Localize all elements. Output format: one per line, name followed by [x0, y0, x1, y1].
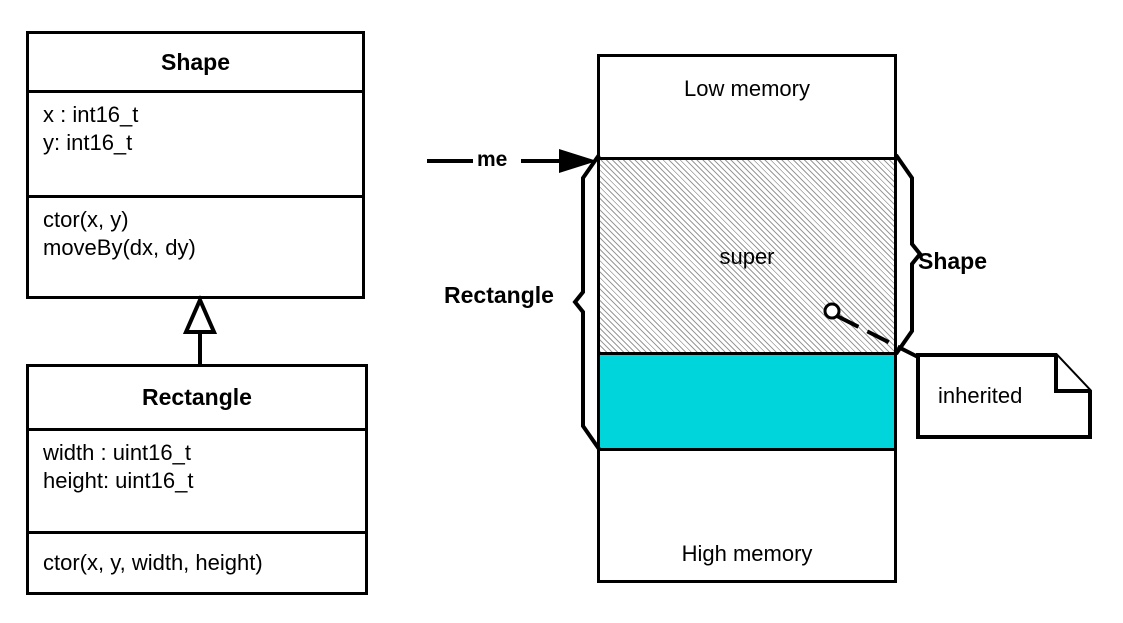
brace-rectangle-shape — [575, 155, 599, 449]
hollow-triangle-icon — [186, 300, 214, 332]
uml-operation: ctor(x, y) — [43, 206, 362, 234]
uml-attribute: y: int16_t — [43, 129, 362, 157]
uml-attribute: width : uint16_t — [43, 439, 365, 467]
note-inherited: inherited — [916, 353, 1092, 439]
memory-low-label: Low memory — [600, 76, 894, 102]
note-inherited-label: inherited — [938, 383, 1022, 409]
uml-class-rectangle: Rectangle width : uint16_t height: uint1… — [26, 364, 368, 595]
memory-high-label: High memory — [600, 541, 894, 567]
uml-attribute: height: uint16_t — [43, 467, 365, 495]
uml-class-rectangle-attributes: width : uint16_t height: uint16_t — [29, 428, 365, 531]
uml-class-shape: Shape x : int16_t y: int16_t ctor(x, y) … — [26, 31, 365, 299]
generalization-connector — [170, 298, 230, 364]
uml-class-rectangle-name: Rectangle — [29, 367, 365, 428]
uml-class-shape-name: Shape — [29, 34, 362, 90]
diagram-canvas: Shape x : int16_t y: int16_t ctor(x, y) … — [0, 0, 1123, 623]
leader-anchor-circle — [825, 304, 839, 318]
note-leader-line — [820, 300, 930, 362]
brace-shape-label: Shape — [918, 248, 987, 275]
uml-attribute: x : int16_t — [43, 101, 362, 129]
me-pointer-label: me — [477, 148, 507, 172]
brace-rectangle-label: Rectangle — [444, 282, 554, 309]
brace-rectangle — [565, 152, 605, 452]
uml-class-shape-attributes: x : int16_t y: int16_t — [29, 90, 362, 195]
uml-class-rectangle-operations: ctor(x, y, width, height) — [29, 531, 365, 592]
memory-region-super-label: super — [600, 244, 894, 270]
uml-operation: ctor(x, y, width, height) — [43, 549, 263, 577]
uml-class-shape-operations: ctor(x, y) moveBy(dx, dy) — [29, 195, 362, 296]
uml-operation: moveBy(dx, dy) — [43, 234, 362, 262]
leader-dashed-line — [837, 316, 918, 357]
memory-region-subclass — [600, 355, 894, 451]
